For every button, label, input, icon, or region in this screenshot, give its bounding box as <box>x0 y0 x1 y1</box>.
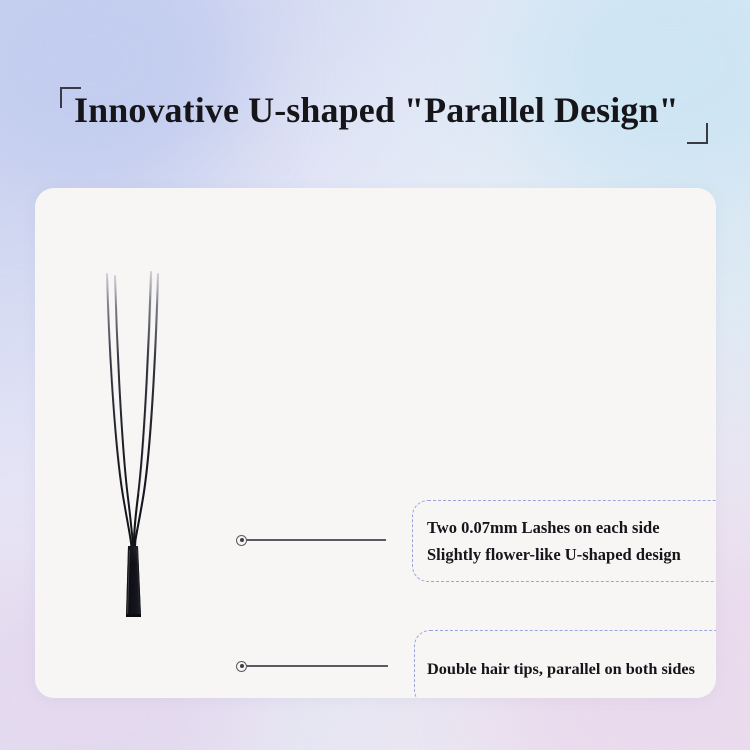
eyelash-fan-illustration <box>45 258 245 658</box>
feature-text-line: Double hair tips, parallel on both sides <box>427 655 716 682</box>
feature-box-double-tips: Double hair tips, parallel on both sides <box>414 630 716 698</box>
corner-bracket-bottom-right-icon <box>687 123 708 144</box>
page-title: Innovative U-shaped "Parallel Design" <box>74 84 679 136</box>
connector-line-2 <box>246 665 388 667</box>
connector-dot-icon-2 <box>236 661 247 672</box>
eyelash-fan-svg <box>45 258 245 658</box>
title-block: Innovative U-shaped "Parallel Design" <box>60 86 708 148</box>
connector-1 <box>236 533 386 547</box>
feature-text-line: Two 0.07mm Lashes on each side <box>427 514 716 541</box>
connector-2 <box>236 659 388 673</box>
content-card: Two 0.07mm Lashes on each side Slightly … <box>35 188 716 698</box>
feature-box-lash-thickness: Two 0.07mm Lashes on each side Slightly … <box>412 500 716 582</box>
feature-text-line: Slightly flower-like U-shaped design <box>427 541 716 568</box>
connector-dot-icon-1 <box>236 535 247 546</box>
connector-line-1 <box>246 539 386 541</box>
